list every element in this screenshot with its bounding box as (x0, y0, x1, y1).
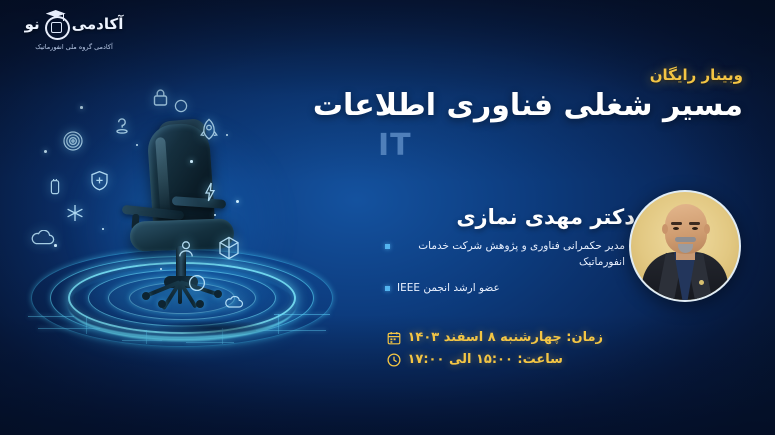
logo-word-right: آکادمی (72, 15, 124, 33)
cloud-icon (224, 294, 244, 313)
title-latin-it: IT (378, 128, 412, 163)
chair-illustration (18, 78, 348, 378)
page-title: مسیر شغلی فناوری اطلاعات (313, 88, 743, 123)
clock-icon (387, 353, 401, 367)
circle-icon (174, 98, 188, 117)
hexagon-cube-icon (218, 236, 240, 264)
circle-icon (188, 274, 206, 296)
fingerprint-icon (62, 130, 84, 156)
office-chair (114, 124, 254, 314)
graduation-cap-icon (43, 11, 69, 37)
schedule-date-text: زمان: چهارشنبه ۸ اسفند ۱۴۰۳ (407, 330, 603, 345)
shield-icon (90, 170, 109, 195)
user-icon (178, 240, 194, 262)
list-item: عضو ارشد انجمن IEEE (385, 280, 635, 296)
schedule-date-row: زمان: چهارشنبه ۸ اسفند ۱۴۰۳ (387, 330, 603, 345)
schedule-block: زمان: چهارشنبه ۸ اسفند ۱۴۰۳ ساعت: ۱۵:۰۰ … (387, 330, 603, 374)
logo-subtitle: آکادمی گروه ملی انفورماتیک (14, 43, 134, 51)
brand-logo[interactable]: آکادمی نو آکادمی گروه ملی انفورماتیک (14, 8, 134, 51)
schedule-time-row: ساعت: ۱۵:۰۰ الی ۱۷:۰۰ (387, 352, 603, 367)
calendar-icon (387, 331, 401, 345)
rocket-icon (200, 118, 218, 148)
credential-text: مدیر حکمرانی فناوری و پژوهش شرکت خدمات ا… (397, 238, 625, 271)
snowflake-icon (66, 204, 84, 226)
cloud-icon (30, 230, 56, 250)
lightning-bolt-icon (204, 182, 216, 206)
logo-word-left: نو (25, 15, 40, 33)
eyebrow-free-webinar: وبینار رایگان (650, 66, 743, 84)
bullet-icon (385, 286, 390, 291)
avatar (629, 190, 741, 302)
bullet-icon (385, 244, 390, 249)
list-item: مدیر حکمرانی فناوری و پژوهش شرکت خدمات ا… (385, 238, 635, 271)
schedule-time-text: ساعت: ۱۵:۰۰ الی ۱۷:۰۰ (407, 352, 562, 367)
credential-text: عضو ارشد انجمن IEEE (397, 280, 500, 296)
speaker-credentials: مدیر حکمرانی فناوری و پژوهش شرکت خدمات ا… (385, 238, 635, 305)
battery-icon (50, 178, 60, 200)
padlock-icon (152, 88, 169, 111)
speaker-name: دکتر مهدی نمازی (456, 205, 635, 229)
webinar-poster: آکادمی نو آکادمی گروه ملی انفورماتیک وبی… (0, 0, 775, 435)
question-mark-icon (112, 116, 132, 140)
